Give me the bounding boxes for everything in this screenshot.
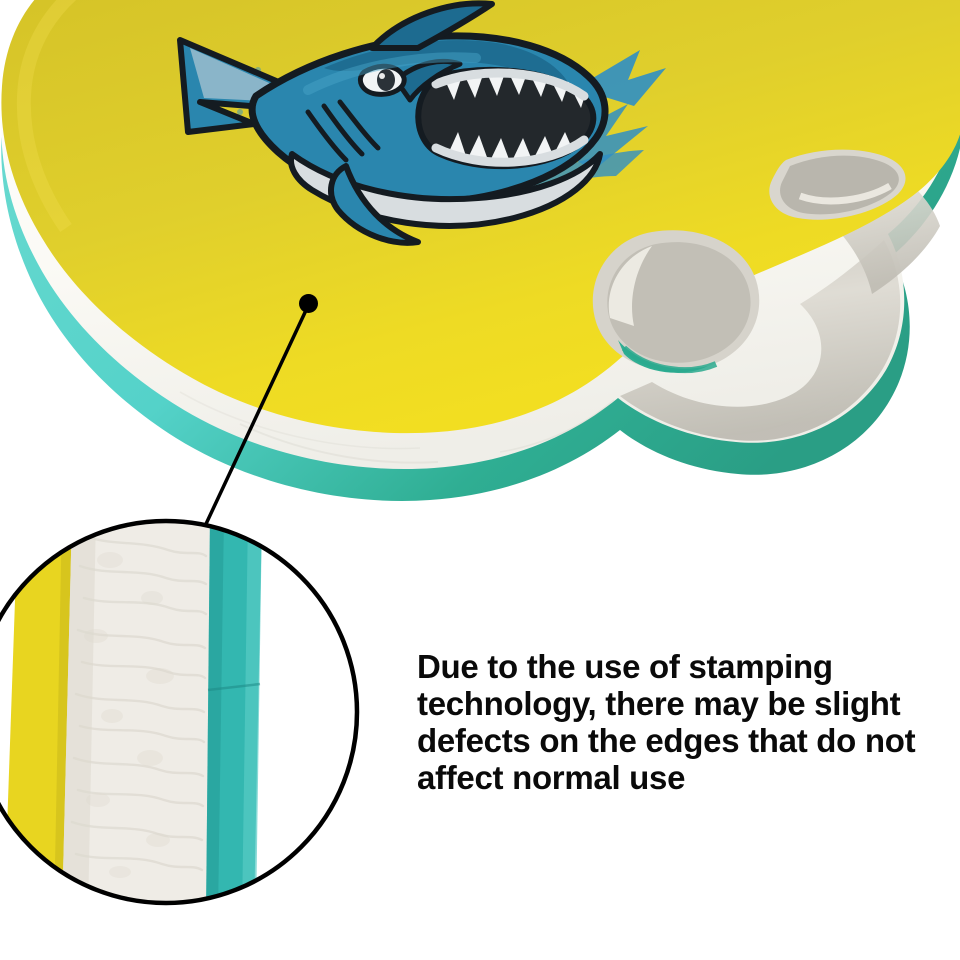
- callout-circle: [0, 515, 390, 915]
- stamping-defect-notice: Due to the use of stamping technology, t…: [417, 648, 917, 796]
- product-image-canvas: Due to the use of stamping technology, t…: [0, 0, 960, 960]
- handle-cutout-lower: [593, 230, 759, 373]
- kickboard-illustration: [0, 0, 960, 960]
- callout-leader-dot: [299, 294, 318, 313]
